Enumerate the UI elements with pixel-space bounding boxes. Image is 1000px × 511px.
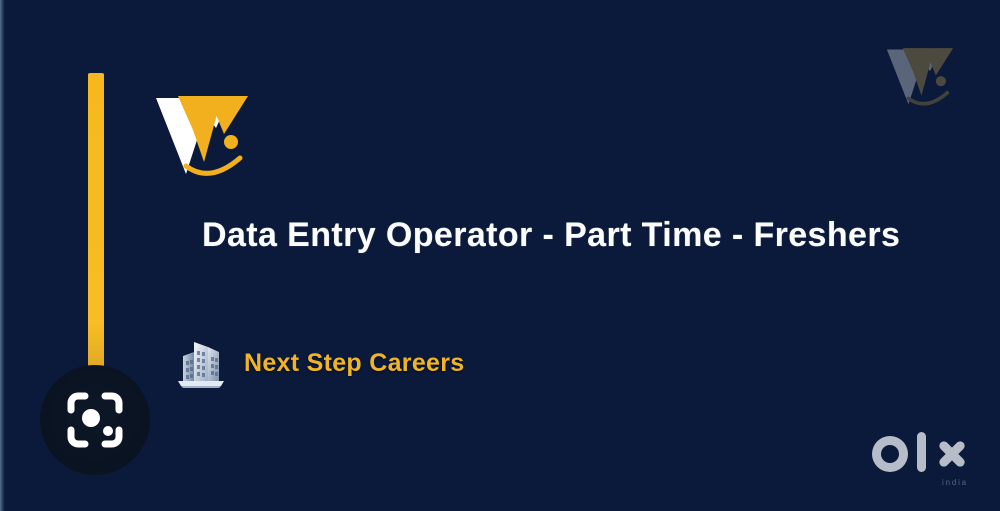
olx-watermark: india india <box>868 430 972 492</box>
left-edge-strip <box>0 0 5 511</box>
google-lens-button[interactable] <box>40 365 150 475</box>
job-title-headline: Data Entry Operator - Part Time - Freshe… <box>202 216 900 255</box>
job-ad-image: Data Entry Operator - Part Time - Freshe… <box>0 0 1000 511</box>
office-building-icon <box>172 338 230 388</box>
company-name-label: Next Step Careers <box>244 349 464 378</box>
w-monogram-logo <box>152 82 252 182</box>
olx-sub-label: india <box>942 478 968 487</box>
w-monogram-logo-faded <box>884 38 956 110</box>
company-row: Next Step Careers <box>172 338 464 388</box>
lens-scan-icon <box>62 387 128 453</box>
